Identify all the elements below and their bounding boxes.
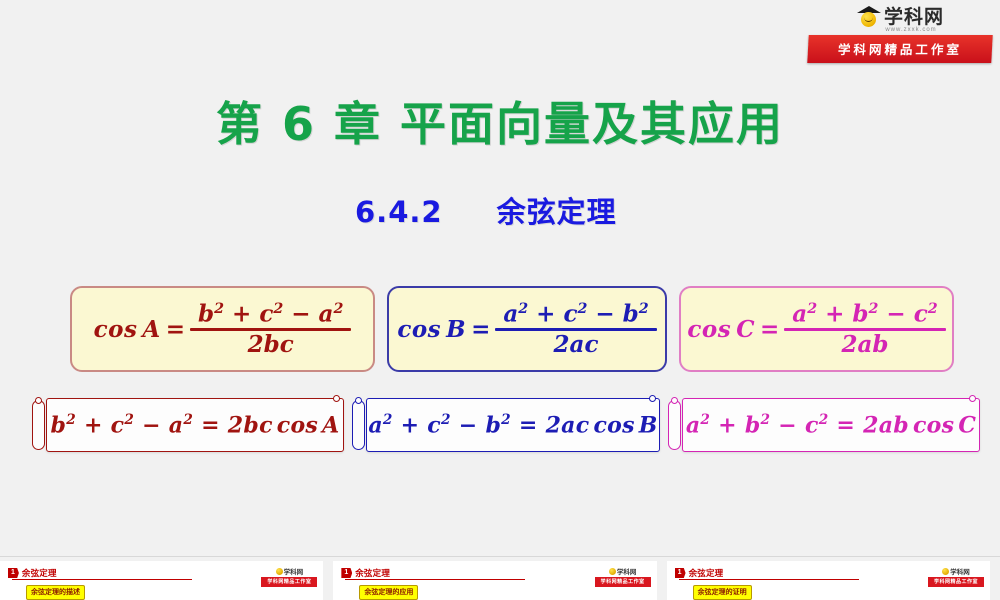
fraction-denominator: 2bc: [240, 331, 302, 356]
fraction-numerator: a2 + b2 − c2: [784, 302, 945, 328]
plaque-sheet: a2 + b2 − c2 = 2abcosC: [682, 398, 980, 452]
brand-url: www.zxxk.com: [830, 27, 992, 33]
thumbnail-brand-top: 学科网: [928, 566, 984, 576]
formula-cos-a: cosA = b2 + c2 − a2 2bc: [94, 302, 352, 356]
thumbnail-title: 余弦定理: [689, 567, 724, 579]
thumbnail-brand-banner: 学科网精品工作室: [595, 577, 651, 587]
fraction: a2 + c2 − b2 2ac: [495, 302, 656, 356]
page-title: 第 6 章 平面向量及其应用: [0, 88, 1000, 154]
thumbnail-header: 1 余弦定理: [8, 567, 57, 579]
thumbnail-header: 1 余弦定理: [341, 567, 390, 579]
thumbnail-brand-name: 学科网: [950, 566, 970, 576]
brand-banner: 学科网精品工作室: [807, 35, 992, 63]
scroll-knob-left-icon: [355, 397, 362, 404]
formula-lhs: cosA: [94, 316, 161, 343]
plaque-sheet: b2 + c2 − a2 = 2bccosA: [46, 398, 344, 452]
equation-law-c: a2 + b2 − c2 = 2abcosC: [686, 412, 976, 438]
graduation-cap-mascot-icon: [609, 568, 616, 575]
formula-cos-c: cosC = a2 + b2 − c2 2ab: [687, 302, 945, 356]
subtitle-text: 余弦定理: [497, 195, 617, 229]
thumbnail-rule: [679, 579, 859, 580]
scroll-knob-left-icon: [35, 397, 42, 404]
thumbnail-brand-top: 学科网: [595, 566, 651, 576]
plaque-law-c: a2 + b2 − c2 = 2abcosC: [668, 398, 980, 452]
fraction-numerator: a2 + c2 − b2: [495, 302, 656, 328]
slide-thumbnail[interactable]: 1 余弦定理 余弦定理的应用 学科网 学科网精品工作室: [333, 561, 656, 600]
thumbnail-brand-name: 学科网: [284, 566, 304, 576]
thumbnail-chip: 余弦定理的证明: [693, 585, 752, 600]
thumbnail-title: 余弦定理: [22, 567, 57, 579]
thumbnail-brand-banner: 学科网精品工作室: [261, 577, 317, 587]
thumbnail-brand-logo: 学科网 学科网精品工作室: [928, 566, 984, 587]
plaque-law-b: a2 + c2 − b2 = 2accosB: [352, 398, 660, 452]
subtitle-number: 6.4.2: [355, 195, 443, 229]
scroll-knob-right-icon: [649, 395, 656, 402]
fraction-numerator: b2 + c2 − a2: [190, 302, 351, 328]
brand-name: 学科网: [884, 7, 944, 27]
graduation-cap-mascot-icon: [276, 568, 283, 575]
thumbnail-number-badge: 1: [8, 568, 19, 578]
graduation-cap-mascot-icon: [856, 5, 882, 29]
thumbnail-brand-name: 学科网: [617, 566, 637, 576]
scroll-knob-right-icon: [333, 395, 340, 402]
formula-lhs: cosB: [397, 316, 466, 343]
slide-thumbnail[interactable]: 1 余弦定理 余弦定理的描述 学科网 学科网精品工作室: [0, 561, 323, 600]
fraction: b2 + c2 − a2 2bc: [190, 302, 351, 356]
fraction: a2 + b2 − c2 2ab: [784, 302, 945, 356]
thumbnail-chip: 余弦定理的描述: [26, 585, 85, 600]
cosine-formula-row: cosA = b2 + c2 − a2 2bc cosB = a2 + c2 −…: [70, 286, 960, 372]
thumbnail-number-badge: 1: [675, 568, 686, 578]
formula-equals: =: [760, 316, 779, 343]
formula-lhs: cosC: [687, 316, 755, 343]
equation-law-a: b2 + c2 − a2 = 2bccosA: [51, 412, 340, 438]
fraction-denominator: 2ab: [833, 331, 896, 356]
scroll-roller-icon: [352, 400, 365, 450]
brand-logo: 学科网 www.zxxk.com 学科网精品工作室: [808, 4, 992, 63]
formula-cos-b: cosB = a2 + c2 − b2 2ac: [397, 302, 656, 356]
thumbnail-brand-top: 学科网: [261, 566, 317, 576]
formula-box-cos-c: cosC = a2 + b2 − c2 2ab: [679, 286, 954, 372]
presentation-stage: 学科网 www.zxxk.com 学科网精品工作室 第 6 章 平面向量及其应用…: [0, 0, 1000, 600]
thumbnail-brand-logo: 学科网 学科网精品工作室: [261, 566, 317, 587]
fraction-denominator: 2ac: [546, 331, 607, 356]
thumbnail-rule: [345, 579, 525, 580]
scroll-roller-icon: [668, 400, 681, 450]
thumbnail-header: 1 余弦定理: [675, 567, 724, 579]
graduation-cap-mascot-icon: [942, 568, 949, 575]
scroll-knob-left-icon: [671, 397, 678, 404]
slide-canvas: 学科网 www.zxxk.com 学科网精品工作室 第 6 章 平面向量及其应用…: [0, 0, 1000, 556]
formula-equals: =: [471, 316, 490, 343]
formula-box-cos-a: cosA = b2 + c2 − a2 2bc: [70, 286, 375, 372]
thumbnail-number-badge: 1: [341, 568, 352, 578]
thumbnail-title: 余弦定理: [355, 567, 390, 579]
scroll-knob-right-icon: [969, 395, 976, 402]
law-of-cosines-row: b2 + c2 − a2 = 2bccosA a2 + c2 − b2 = 2a…: [32, 398, 972, 452]
plaque-sheet: a2 + c2 − b2 = 2accosB: [366, 398, 660, 452]
thumbnail-rule: [12, 579, 192, 580]
thumbnail-brand-logo: 学科网 学科网精品工作室: [595, 566, 651, 587]
formula-box-cos-b: cosB = a2 + c2 − b2 2ac: [387, 286, 667, 372]
slide-subtitle: 6.4.2余弦定理: [355, 190, 625, 234]
thumbnail-chip: 余弦定理的应用: [359, 585, 418, 600]
thumbnail-brand-banner: 学科网精品工作室: [928, 577, 984, 587]
formula-equals: =: [166, 316, 185, 343]
plaque-law-a: b2 + c2 − a2 = 2bccosA: [32, 398, 344, 452]
equation-law-b: a2 + c2 − b2 = 2accosB: [368, 412, 657, 438]
slide-thumbnail[interactable]: 1 余弦定理 余弦定理的证明 学科网 学科网精品工作室: [667, 561, 990, 600]
slide-thumbnail-strip[interactable]: 1 余弦定理 余弦定理的描述 学科网 学科网精品工作室 1 余弦定理 余弦定理的…: [0, 556, 1000, 600]
scroll-roller-icon: [32, 400, 45, 450]
